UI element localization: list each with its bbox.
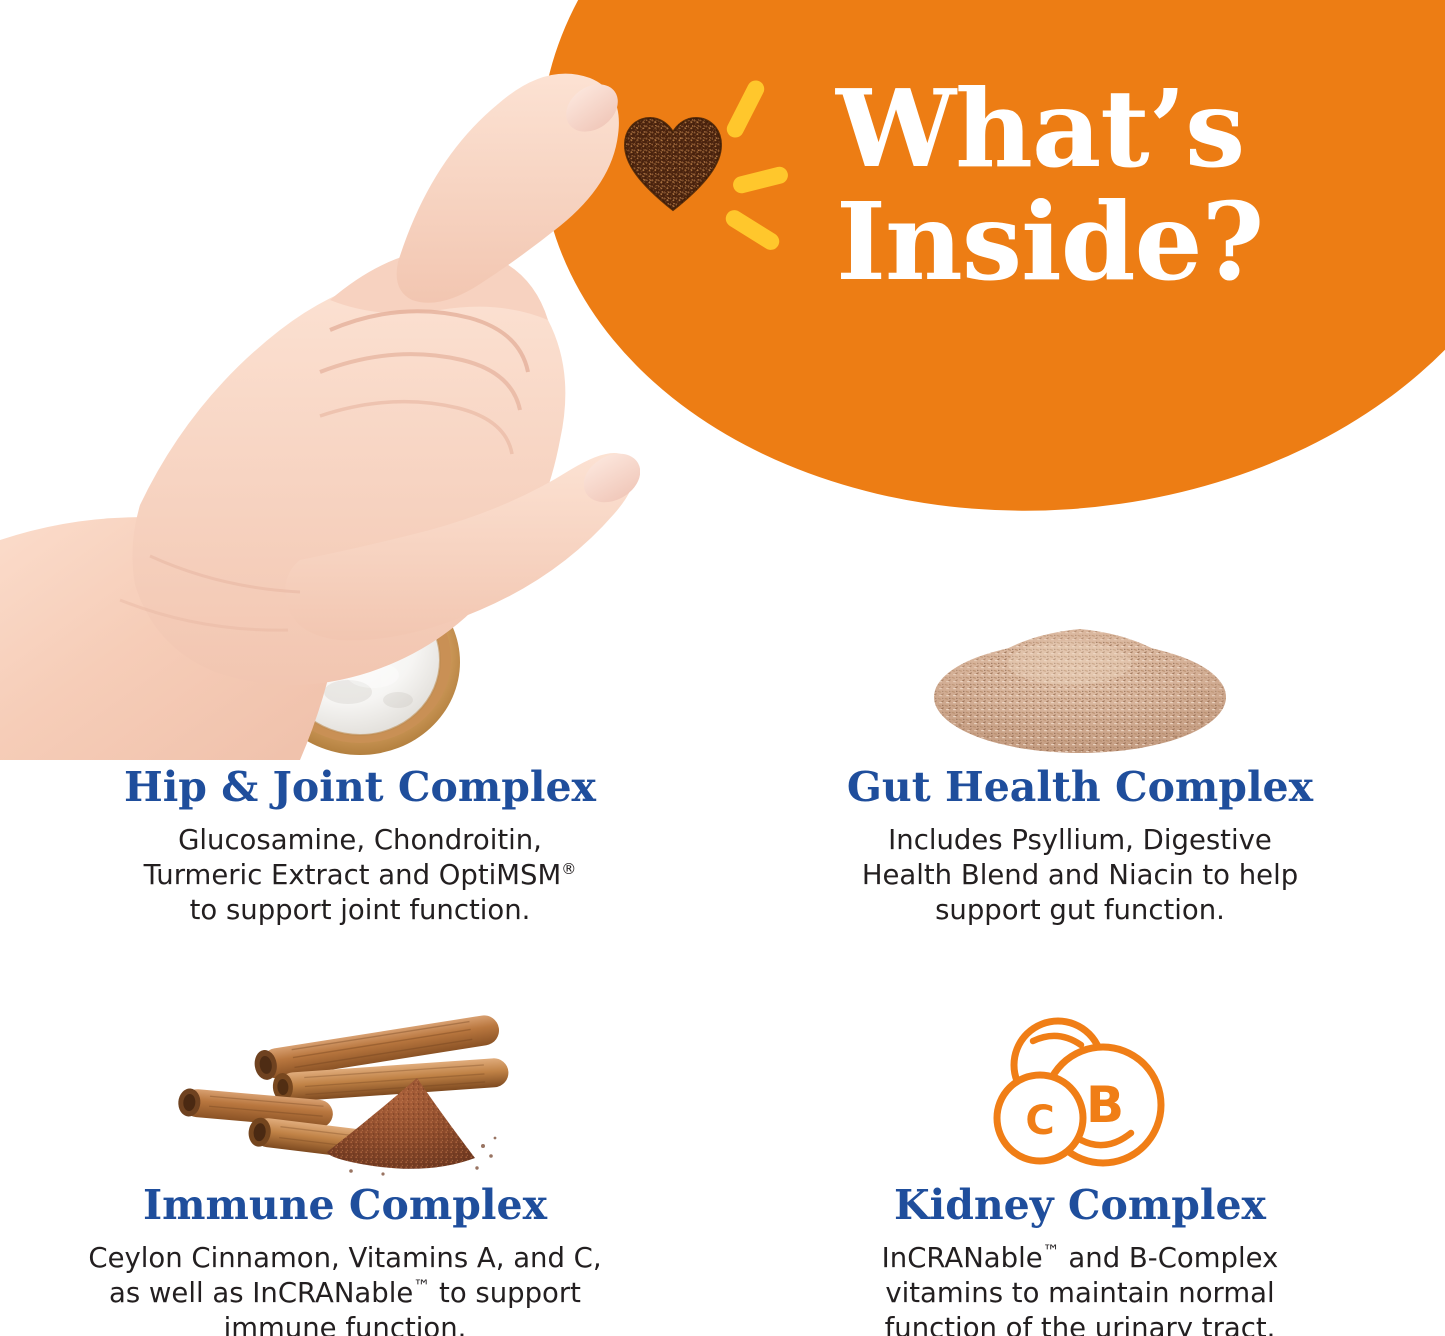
card-title: Immune Complex [0,1184,695,1227]
trademark-mark: ™ [1043,1242,1060,1262]
hand-pinching-treat-icon [0,0,640,760]
card-kidney: C B Kidney Complex InCRANable™ and B-Com… [730,963,1430,1336]
card-body-line: Includes Psyllium, Digestive [888,824,1272,856]
card-gut-health: Gut Health Complex Includes Psyllium, Di… [730,545,1430,929]
card-body-line: vitamins to maintain normal [885,1277,1274,1309]
card-title: Kidney Complex [730,1184,1430,1227]
card-title: Gut Health Complex [730,766,1430,809]
cinnamon-sticks-and-powder-icon [175,1006,515,1178]
card-body-line: Health Blend and Niacin to help [862,859,1298,891]
heart-treat-icon [621,113,725,217]
page-title: What’s Inside? [836,78,1396,296]
card-body-line: function of the urinary tract. [885,1312,1276,1336]
card-title: Hip & Joint Complex [10,766,710,809]
trademark-mark: ™ [413,1277,430,1297]
headline-line-1: What’s [836,67,1244,192]
card-body: InCRANable™ and B-Complex vitamins to ma… [820,1241,1340,1336]
card-body-line: Glucosamine, Chondroitin, [178,824,542,856]
card-body-line: Ceylon Cinnamon, Vitamins A, and C, [88,1242,601,1274]
card-body-line: support gut function. [935,894,1225,926]
card-art: C B [730,963,1430,1178]
card-body: Includes Psyllium, Digestive Health Blen… [810,823,1350,929]
headline-line-2: Inside? [836,191,1396,296]
capsule-letter-c: C [1025,1098,1054,1144]
card-art [0,963,695,1178]
card-body-line: immune function. [224,1312,467,1336]
hero-section: What’s Inside? [0,0,1445,520]
card-body: Glucosamine, Chondroitin, Turmeric Extra… [90,823,630,929]
card-body-line: to support joint function. [190,894,531,926]
infographic-page: What’s Inside? [0,0,1445,1336]
registered-mark: ® [561,860,576,878]
psyllium-husk-pile-icon [930,585,1230,760]
card-immune: Immune Complex Ceylon Cinnamon, Vitamins… [0,963,695,1336]
capsule-letter-b: B [1085,1076,1123,1134]
card-art [730,545,1430,760]
card-body: Ceylon Cinnamon, Vitamins A, and C, as w… [45,1241,645,1336]
vitamin-c-b-capsules-line-icon: C B [978,1013,1183,1178]
